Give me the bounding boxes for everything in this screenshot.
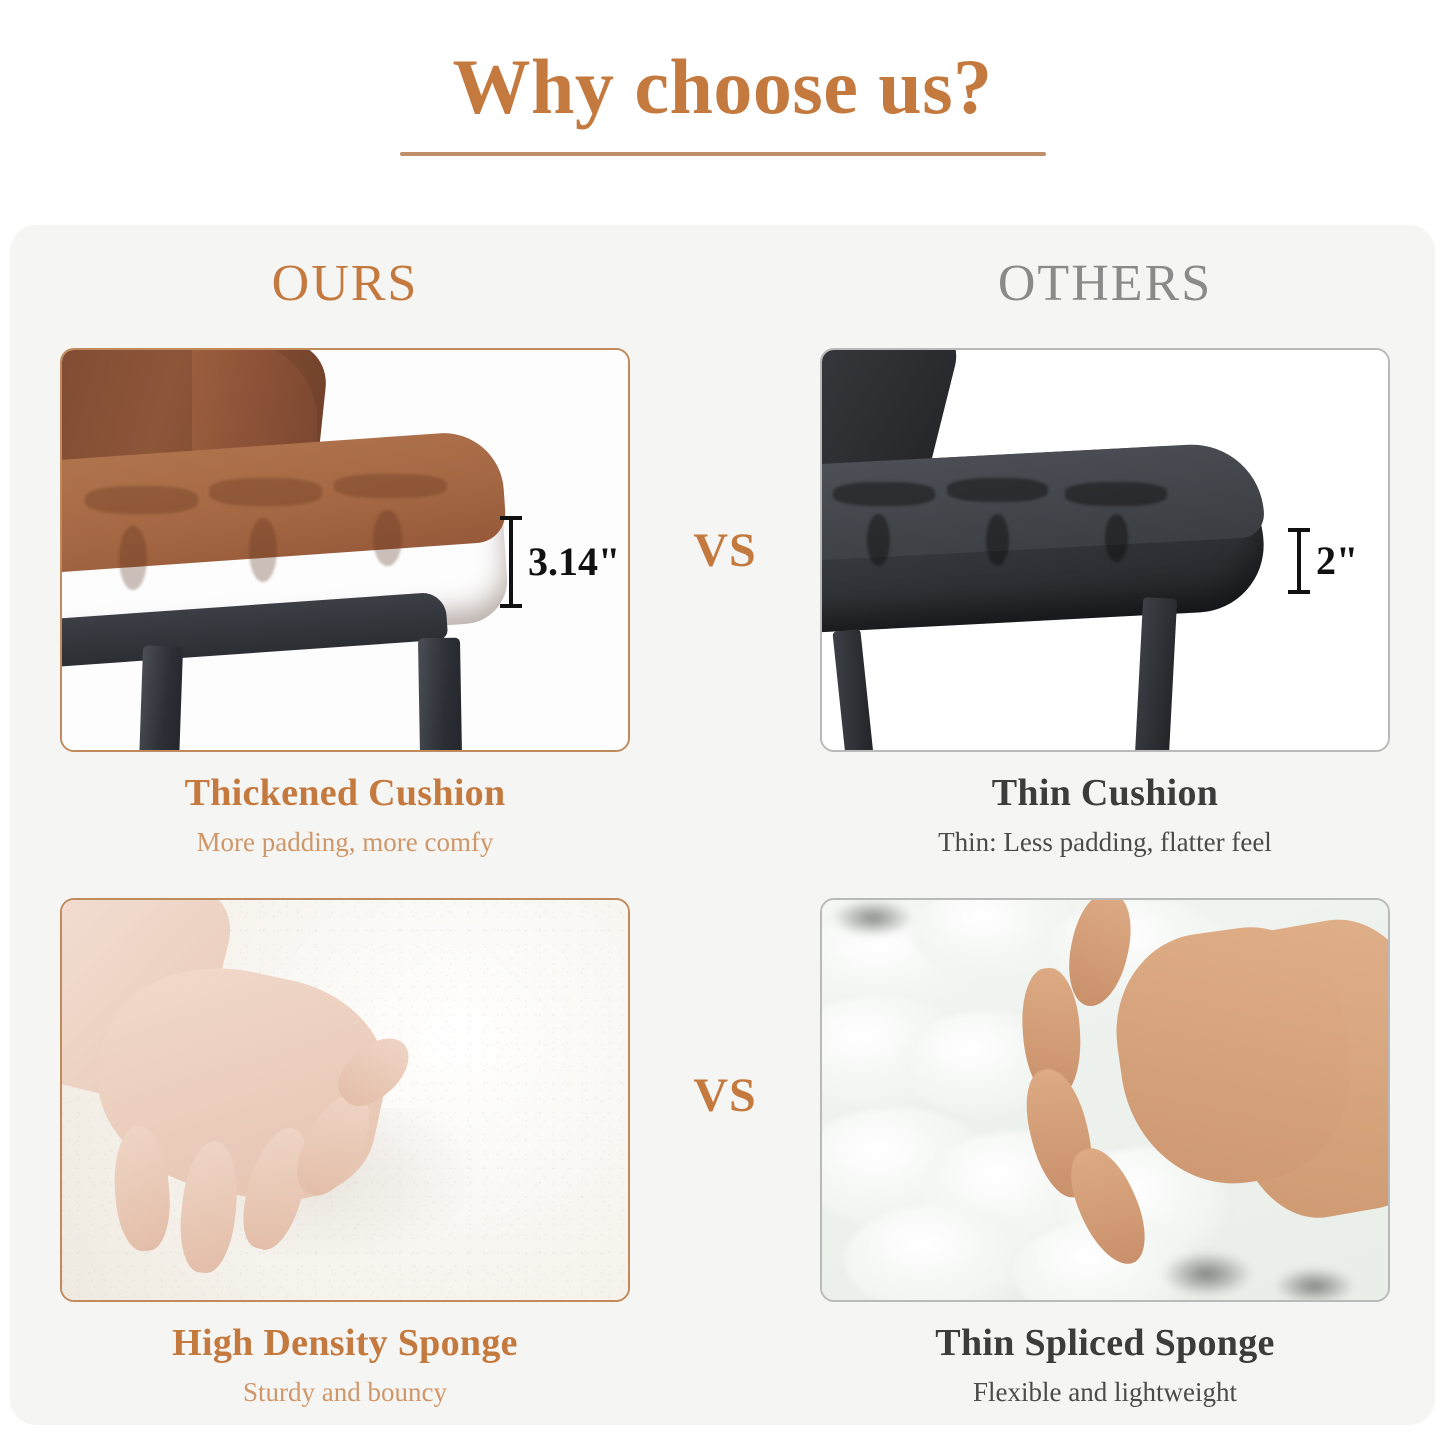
caption-title: Thin Cushion [820,772,1390,816]
caption-subtitle: Sturdy and bouncy [60,1376,630,1408]
infographic-root: Why choose us? OURS OTHERS 3 [0,0,1445,1445]
caption-ours-sponge: High Density Sponge Sturdy and bouncy [60,1322,630,1408]
caption-others-cushion: Thin Cushion Thin: Less padding, flatter… [820,772,1390,858]
vs-label-row1: VS [630,523,820,578]
dimension-value: 3.14" [528,542,620,582]
high-density-foam-illustration [62,900,628,1300]
column-header-others: OTHERS [820,258,1390,310]
caption-ours-cushion: Thickened Cushion More padding, more com… [60,772,630,858]
caption-subtitle: More padding, more comfy [60,826,630,858]
image-card-others-sponge [820,898,1390,1302]
column-header-ours: OURS [60,258,630,310]
caption-subtitle: Thin: Less padding, flatter feel [820,826,1390,858]
page-title: Why choose us? [0,44,1445,130]
dimension-line-icon [1288,528,1310,594]
title-divider [400,152,1046,156]
hand-illustration [60,898,458,1244]
caption-title: Thickened Cushion [60,772,630,816]
dimension-value: 2" [1316,541,1358,581]
image-card-ours-sponge [60,898,630,1302]
caption-title: Thin Spliced Sponge [820,1322,1390,1366]
dimension-annotation-ours-cushion: 3.14" [500,516,620,608]
dimension-line-icon [500,516,522,608]
hand-illustration [1014,898,1390,1268]
header: Why choose us? [0,44,1445,156]
caption-subtitle: Flexible and lightweight [820,1376,1390,1408]
caption-others-sponge: Thin Spliced Sponge Flexible and lightwe… [820,1322,1390,1408]
spliced-fiber-illustration [822,900,1388,1300]
vs-label-row2: VS [630,1068,820,1123]
caption-title: High Density Sponge [60,1322,630,1366]
dimension-annotation-others-cushion: 2" [1288,528,1358,594]
